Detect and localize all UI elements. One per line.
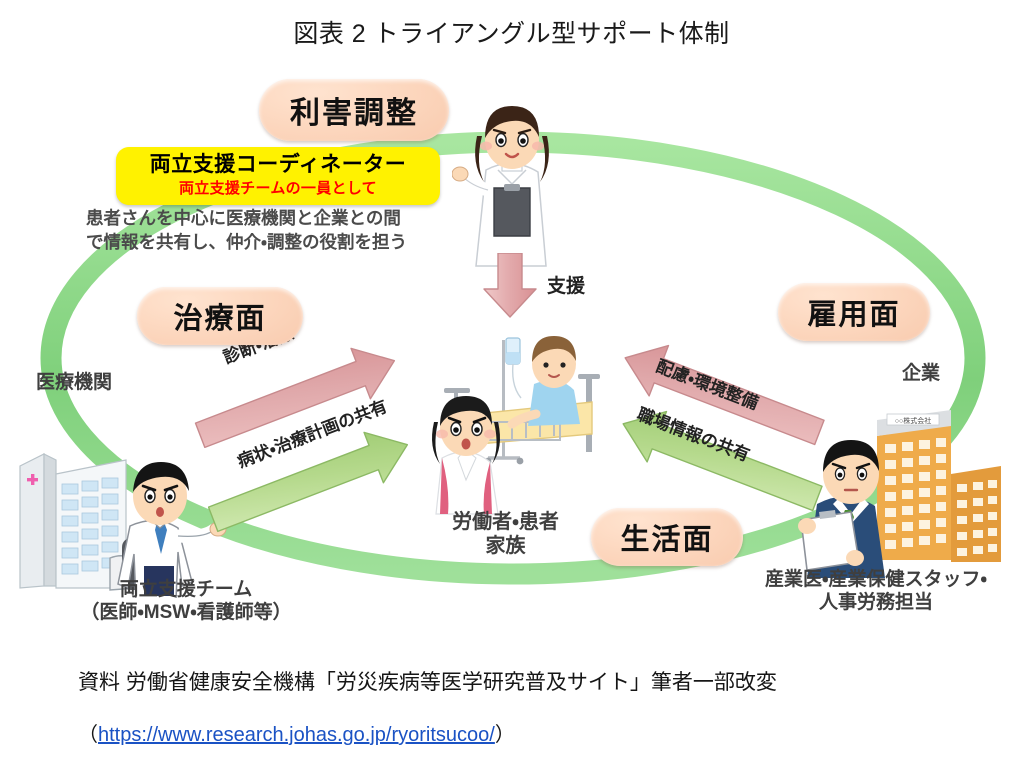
source-text: 資料 労働省健康安全機構「労災疾病等医学研究普及サイト」筆者一部改変 [78, 666, 978, 696]
svg-text:○○株式会社: ○○株式会社 [895, 416, 931, 425]
url-close-paren: ） [495, 724, 515, 746]
source-url-link[interactable]: https://www.research.johas.go.jp/ryorits… [98, 724, 495, 746]
label-support-team-line2: （医師・MSW・看護師等） [52, 601, 320, 624]
label-support-team-line1: 両立支援チーム [52, 578, 320, 601]
label-occupational-staff-line1: 産業医・産業保健スタッフ・ [738, 568, 1014, 591]
label-center-actor-line1: 労働者・患者 [418, 510, 593, 534]
coordinator-nurse-illustration [452, 104, 572, 274]
pill-interest-adjustment: 利害調整 [259, 79, 449, 141]
label-medical-institution: 医療機関 [14, 371, 134, 394]
label-support-team: 両立支援チーム （医師・MSW・看護師等） [52, 578, 320, 624]
label-occupational-staff: 産業医・産業保健スタッフ・ 人事労務担当 [738, 568, 1014, 614]
source-url-line: （https://www.research.johas.go.jp/ryorit… [78, 718, 978, 747]
label-company: 企業 [866, 362, 976, 385]
pill-life-aspect: 生活面 [591, 508, 743, 566]
label-center-actor-line2: 家族 [418, 534, 593, 558]
label-center-actor: 労働者・患者 家族 [418, 510, 593, 559]
coordinator-subtitle: 両立支援チームの一員として [179, 177, 377, 198]
coordinator-callout-box: 両立支援コーディネーター 両立支援チームの一員として [116, 147, 440, 205]
coordinator-description: 患者さんを中心に医療機関と企業との間 で情報を共有し、仲介・調整の役割を担う [86, 207, 466, 254]
pill-employment-aspect: 雇用面 [778, 283, 930, 341]
figure-canvas: 図表 2 トライアングル型サポート体制 [0, 0, 1023, 763]
coordinator-title: 両立支援コーディネーター [150, 154, 407, 176]
url-open-paren: （ [78, 724, 98, 746]
coordinator-description-line1: 患者さんを中心に医療機関と企業との間 [86, 207, 466, 231]
page-title: 図表 2 トライアングル型サポート体制 [0, 14, 1023, 50]
pill-treatment-aspect: 治療面 [137, 287, 303, 345]
support-arrow-label: 支援 [531, 275, 601, 298]
label-occupational-staff-line2: 人事労務担当 [738, 591, 1014, 614]
coordinator-description-line2: で情報を共有し、仲介・調整の役割を担う [86, 231, 466, 255]
